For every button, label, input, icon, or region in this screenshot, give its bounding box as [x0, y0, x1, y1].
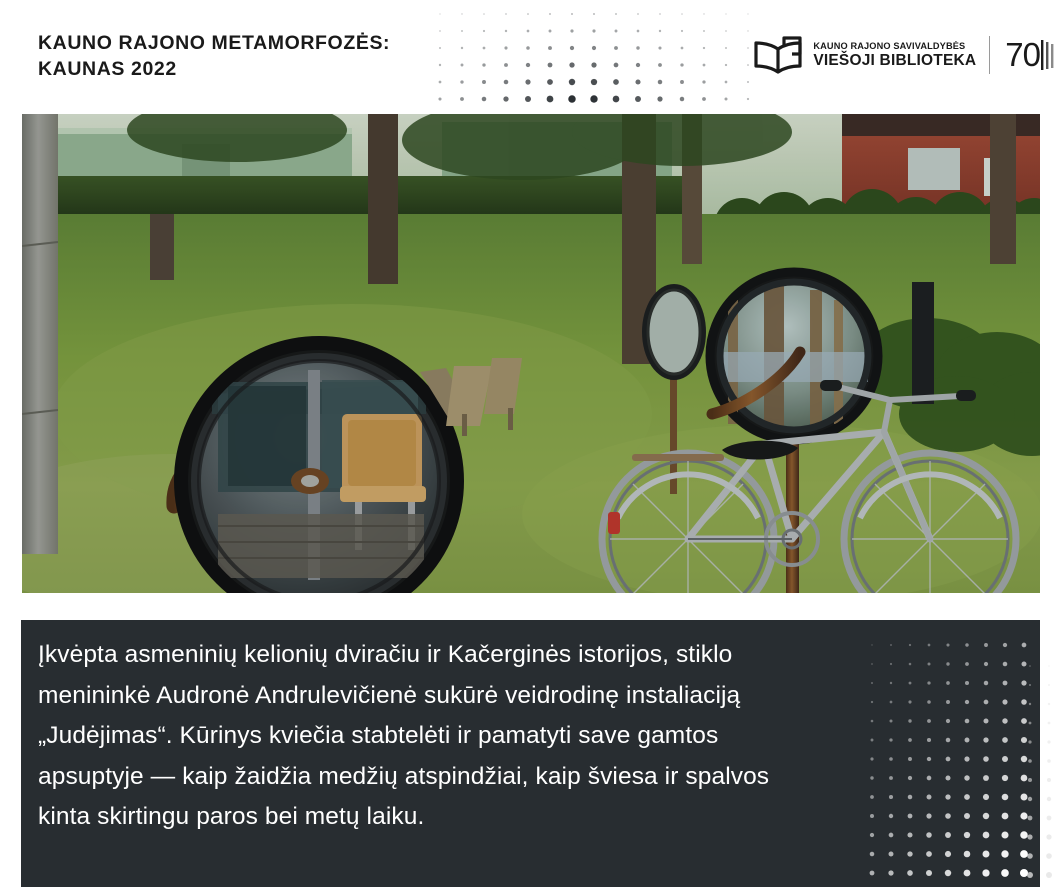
- anniversary-number: 70: [1005, 36, 1040, 74]
- anniversary-badge: 70: [1005, 36, 1058, 74]
- description-line-5: kinta skirtingu paros bei metų laiku.: [38, 797, 988, 838]
- logo-divider: [989, 36, 990, 74]
- logo-line-1: KAUNO RAJONO SAVIVALDYBĖS: [813, 42, 976, 51]
- page-title: KAUNO RAJONO METAMORFOZĖS: KAUNAS 2022: [38, 30, 468, 82]
- description-line-3: „Judėjimas“. Kūrinys kviečia stabtelėti …: [38, 716, 988, 757]
- page-title-line-1: KAUNO RAJONO METAMORFOZĖS:: [38, 30, 468, 56]
- logo-wordmark: KAUNO RAJONO SAVIVALDYBĖS VIEŠOJI BIBLIO…: [813, 42, 976, 69]
- description-line-2: menininkė Audronė Andrulevičienė sukūrė …: [38, 676, 988, 717]
- anniversary-pages-icon: [1040, 38, 1058, 72]
- header-bar: KAUNO RAJONO METAMORFOZĖS: KAUNAS 2022 K…: [0, 0, 1058, 114]
- description-panel: Įkvėpta asmeninių kelionių dviračiu ir K…: [21, 620, 1040, 887]
- description-line-4: apsuptyje — kaip žaidžia medžių atspindž…: [38, 757, 988, 798]
- halftone-dot-pattern-icon: [432, 6, 762, 110]
- description-line-1: Įkvėpta asmeninių kelionių dviračiu ir K…: [38, 635, 988, 676]
- page-title-line-2: KAUNAS 2022: [38, 56, 468, 82]
- slide-root: KAUNO RAJONO METAMORFOZĖS: KAUNAS 2022 K…: [0, 0, 1058, 887]
- description-text: Įkvėpta asmeninių kelionių dviračiu ir K…: [38, 635, 988, 838]
- open-book-icon: [754, 35, 804, 75]
- library-logo: KAUNO RAJONO SAVIVALDYBĖS VIEŠOJI BIBLIO…: [754, 32, 1058, 78]
- installation-photograph: Instaliacija „Judėjimas“ Kačerginėje, ka…: [22, 114, 1040, 593]
- logo-line-2: VIEŠOJI BIBLIOTEKA: [813, 53, 976, 69]
